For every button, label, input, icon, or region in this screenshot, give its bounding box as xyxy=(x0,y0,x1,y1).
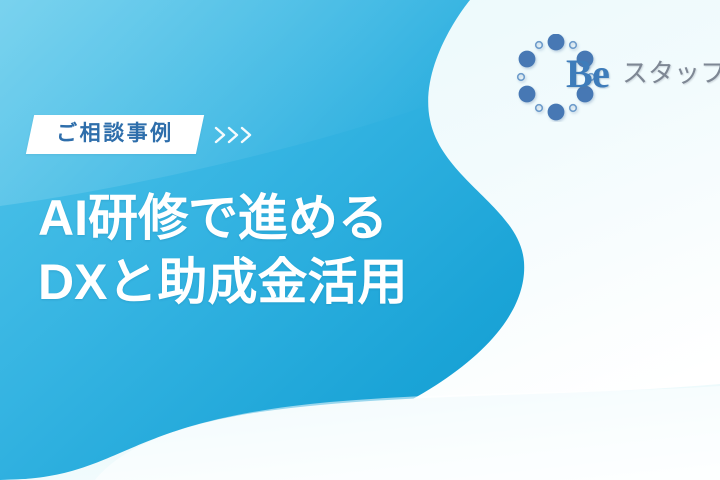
brand-name-secondary: スタッフィン xyxy=(622,60,720,86)
chevron-right-icon xyxy=(212,123,258,147)
page-title: AI研修で進める DXと助成金活用 xyxy=(38,186,478,314)
brand-logo: Be スタッフィン xyxy=(512,28,720,126)
headline-line-1: AI研修で進める xyxy=(38,186,478,250)
eyebrow-label: ご相談事例 xyxy=(56,122,174,146)
eyebrow-plate: ご相談事例 xyxy=(26,115,204,154)
eyebrow-badge: ご相談事例 xyxy=(30,114,258,156)
marketing-banner: Be スタッフィン ご相談事例 AI研修で進める DXと助成金活用 xyxy=(0,0,720,480)
brand-name-primary: Be xyxy=(566,54,609,94)
headline-line-2: DXと助成金活用 xyxy=(38,250,478,314)
